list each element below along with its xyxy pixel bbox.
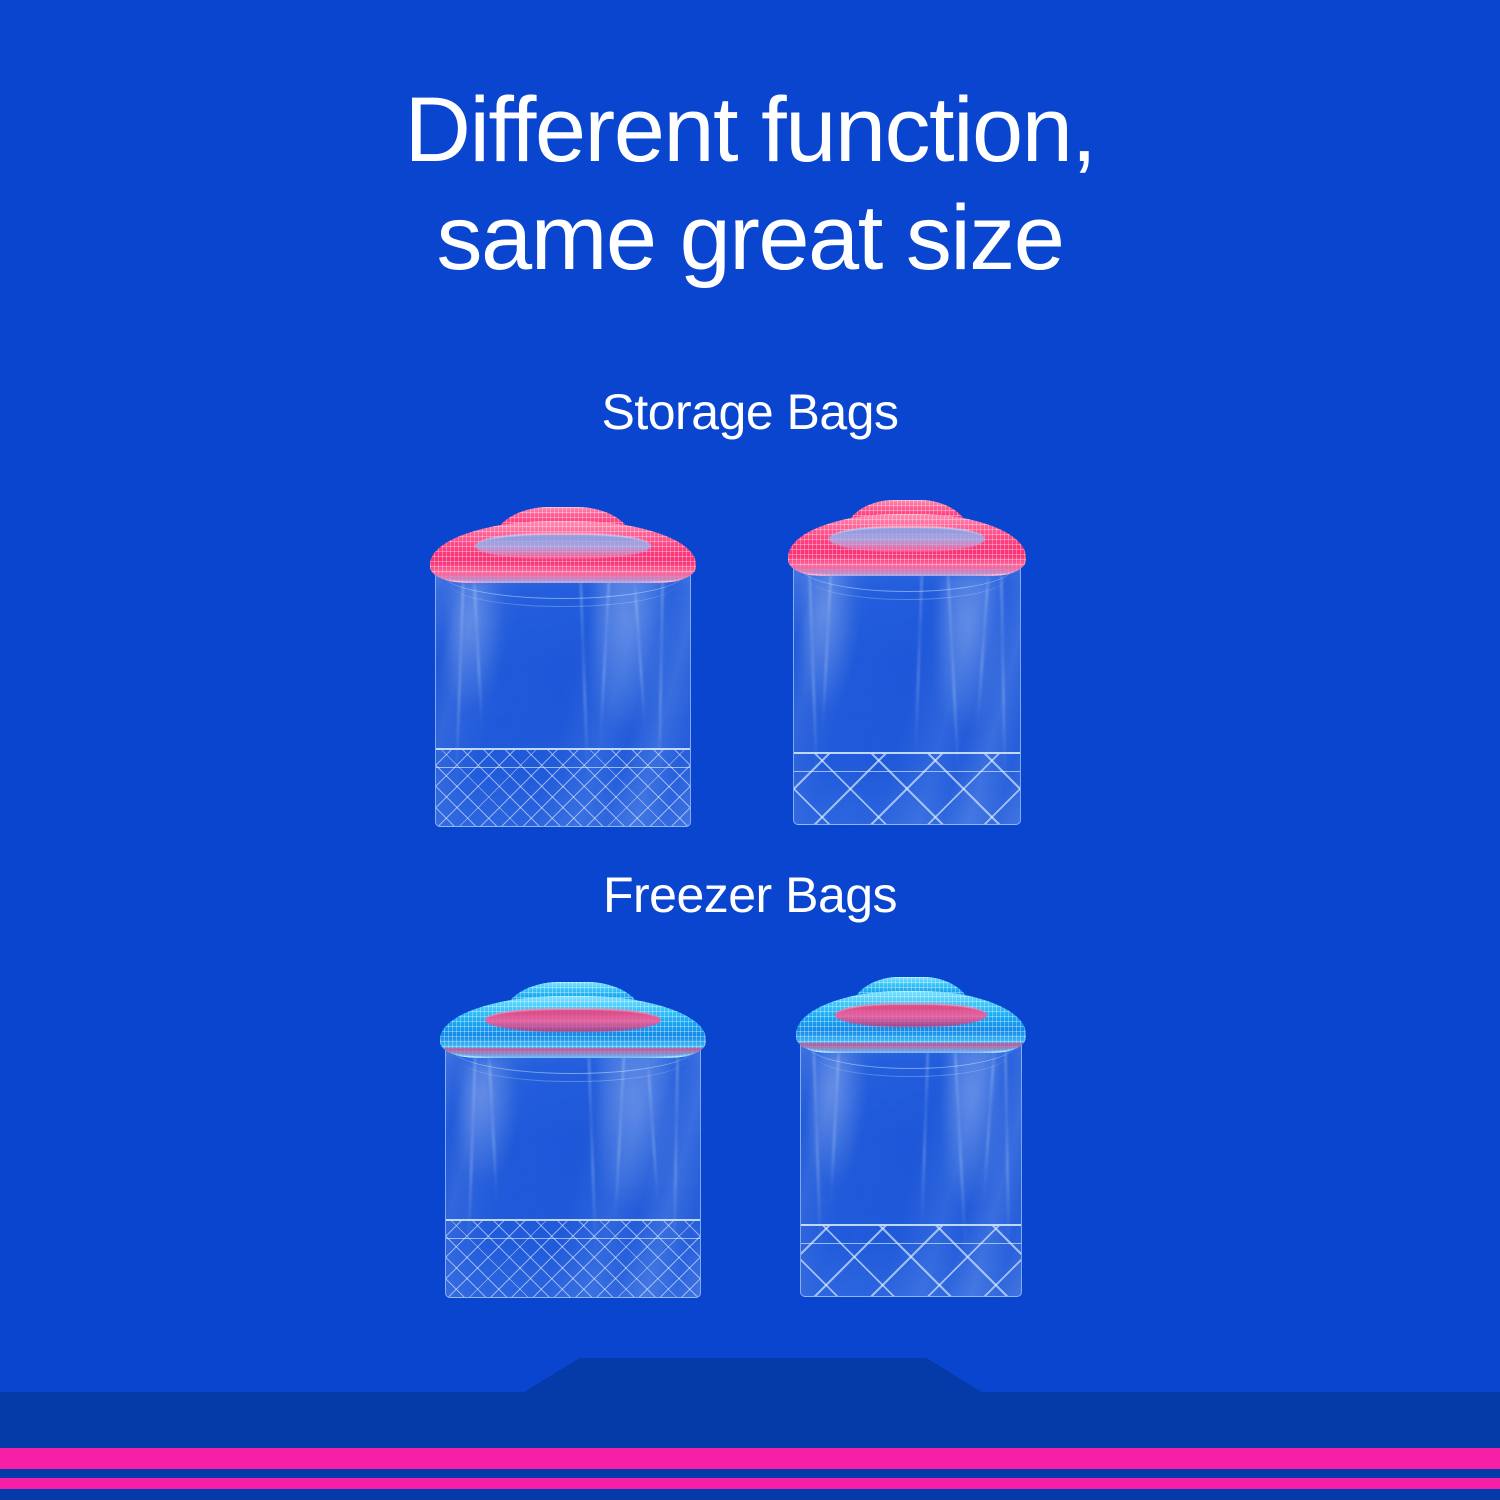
storage-bag-left [435, 507, 691, 827]
zipper-lip [788, 566, 1025, 576]
bag-panel-rule [436, 767, 690, 768]
bag-body [793, 548, 1021, 825]
bag-specular-blob [598, 1051, 679, 1206]
bag-write-on-panel [801, 1224, 1021, 1296]
bag-specular-blob [459, 1062, 515, 1179]
storage-bags-row [0, 495, 1500, 835]
bag-specular-blob [946, 1047, 1008, 1204]
bag-hatch-mesh [801, 1226, 1021, 1296]
freezer-bags-row [0, 972, 1500, 1307]
bag-write-on-panel [446, 1219, 700, 1297]
bag-hatch-mesh [446, 1221, 700, 1297]
footer-stripe-secondary [0, 1478, 1500, 1489]
bag-panel-rule [794, 771, 1020, 772]
zipper-inner-channel [485, 1008, 661, 1032]
freezer-bag-left [445, 982, 701, 1298]
freezer-bag-right [800, 977, 1022, 1297]
zipper-inner-channel [829, 526, 986, 552]
bag-specular-blob [810, 1052, 863, 1182]
section-label-freezer: Freezer Bags [0, 866, 1500, 924]
zipper-inner-channel [835, 1003, 987, 1027]
bag-body [800, 1025, 1022, 1297]
bag-panel-rule [446, 1238, 700, 1239]
zipper-inner-channel [475, 533, 651, 559]
section-label-storage: Storage Bags [0, 383, 1500, 441]
page-title: Different function, same great size [0, 76, 1500, 292]
bag-body [435, 555, 691, 827]
bag-zipper-seal [430, 507, 696, 585]
footer-trapezoid-tab [498, 1358, 1008, 1394]
product-feature-image: Different function, same great size Stor… [0, 0, 1500, 1500]
zipper-lip [796, 1043, 1027, 1053]
bag-specular-blob [939, 576, 1007, 731]
bag-zipper-seal [796, 977, 1027, 1055]
bag-hatch-mesh [794, 754, 1020, 824]
bag-specular-blob [801, 570, 855, 708]
bag-zipper-seal [440, 982, 706, 1060]
bag-hatch-mesh [436, 750, 690, 826]
bag-write-on-panel [794, 752, 1020, 824]
bag-specular-blob [593, 571, 669, 728]
footer-stripe-primary [0, 1448, 1500, 1469]
bag-write-on-panel [436, 748, 690, 826]
bag-zipper-seal [788, 500, 1025, 578]
bag-body [445, 1030, 701, 1298]
zipper-lip [430, 573, 696, 583]
bag-panel-rule [801, 1243, 1021, 1244]
bag-specular-blob [446, 582, 502, 707]
zipper-lip [440, 1048, 706, 1058]
storage-bag-right [793, 500, 1021, 825]
